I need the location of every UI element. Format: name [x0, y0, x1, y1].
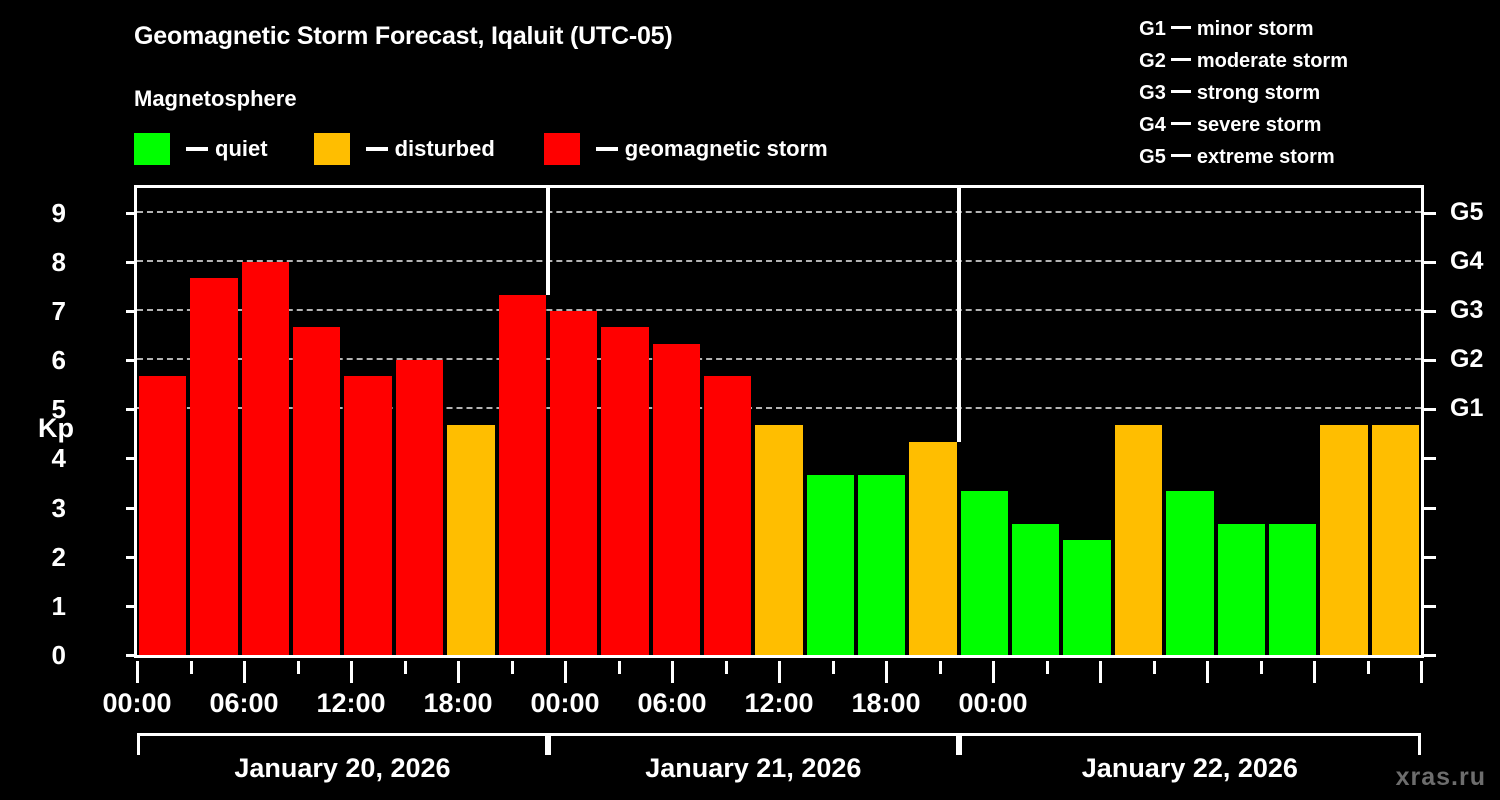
bar-slot	[1061, 188, 1112, 655]
bar[interactable]	[1166, 491, 1213, 655]
g-scale-code: G2	[1139, 50, 1166, 72]
day-bracket	[137, 733, 548, 755]
x-axis-tick	[511, 661, 514, 674]
bar-slot	[907, 188, 958, 655]
bar[interactable]	[190, 278, 237, 655]
x-axis-tick	[992, 661, 995, 683]
bar-slot	[291, 188, 342, 655]
x-axis-tick	[350, 661, 353, 683]
x-axis-tick	[457, 661, 460, 683]
x-axis-tick-label: 00:00	[530, 688, 599, 719]
x-axis-tick	[671, 661, 674, 683]
y-axis-tick-8	[126, 261, 137, 264]
y-axis-tick-label: 2	[26, 544, 66, 570]
bar[interactable]	[807, 475, 854, 655]
y-axis-tick-3	[126, 507, 137, 510]
legend-dash-icon	[366, 147, 388, 151]
g-axis-minor-tick	[1424, 507, 1436, 510]
g-axis-tick-label: G5	[1450, 200, 1483, 225]
g-scale-dash-icon	[1171, 26, 1191, 29]
g-axis-tick-label: G4	[1450, 249, 1483, 274]
g-scale-row-g5: G5extreme storm	[1139, 141, 1348, 173]
page-title: Geomagnetic Storm Forecast, Iqaluit (UTC…	[134, 22, 673, 51]
g-axis-minor-tick	[1424, 654, 1436, 657]
g-scale-dash-icon	[1171, 122, 1191, 125]
y-axis-tick-6	[126, 359, 137, 362]
bar-slot	[1010, 188, 1061, 655]
g-scale-code: G5	[1139, 146, 1166, 168]
x-axis-tick	[1099, 661, 1102, 683]
legend-dash-icon	[596, 147, 618, 151]
x-axis-tick	[832, 661, 835, 674]
y-axis-tick-label: 0	[26, 642, 66, 668]
bar[interactable]	[1320, 425, 1367, 655]
legend-swatch-quiet	[134, 133, 170, 165]
g-scale-label: moderate storm	[1197, 50, 1348, 72]
watermark: xras.ru	[1396, 763, 1486, 792]
day-separator	[957, 185, 961, 442]
x-axis-tick	[885, 661, 888, 683]
g-scale-row-g1: G1minor storm	[1139, 13, 1348, 45]
x-axis-tick-label: 00:00	[102, 688, 171, 719]
x-axis-tick-label: 18:00	[423, 688, 492, 719]
legend-label-quiet: quiet	[215, 136, 268, 162]
chart-plot-area	[134, 185, 1424, 658]
x-axis-tick	[725, 661, 728, 674]
g-axis-tick-g2	[1424, 359, 1436, 362]
bar-slot	[240, 188, 291, 655]
y-axis-tick-9	[126, 212, 137, 215]
plot-inner	[137, 188, 1421, 655]
x-axis-tick-label: 06:00	[209, 688, 278, 719]
legend-item-quiet: quiet	[134, 133, 268, 165]
bar-slot	[137, 188, 188, 655]
legend-item-storm: geomagnetic storm	[544, 133, 828, 165]
x-axis-tick-label: 12:00	[744, 688, 813, 719]
bar[interactable]	[550, 311, 597, 655]
bar[interactable]	[344, 376, 391, 655]
y-axis-tick-label: 3	[26, 495, 66, 521]
y-axis-tick-2	[126, 556, 137, 559]
x-axis-tick	[404, 661, 407, 674]
g-scale-label: strong storm	[1197, 82, 1320, 104]
day-separator	[546, 185, 550, 295]
x-axis-tick-label: 18:00	[851, 688, 920, 719]
bar-slot	[1164, 188, 1215, 655]
bar-slot	[1370, 188, 1421, 655]
bar[interactable]	[293, 327, 340, 655]
x-axis-tick-label: 12:00	[316, 688, 385, 719]
x-axis-tick	[618, 661, 621, 674]
bar-slot	[394, 188, 445, 655]
legend-dash-icon	[186, 147, 208, 151]
x-axis-tick	[136, 661, 139, 683]
x-axis-tick	[1260, 661, 1263, 674]
bar-slot	[1113, 188, 1164, 655]
bar[interactable]	[1372, 425, 1419, 655]
y-axis-tick-label: 6	[26, 347, 66, 373]
x-axis-tick	[1206, 661, 1209, 683]
bar-slot	[188, 188, 239, 655]
bar[interactable]	[1269, 524, 1316, 655]
x-axis-tick	[778, 661, 781, 683]
g-scale-dash-icon	[1171, 58, 1191, 61]
y-axis-tick-7	[126, 310, 137, 313]
g-scale-dash-icon	[1171, 90, 1191, 93]
bar-slot	[548, 188, 599, 655]
bar-series	[137, 188, 1421, 655]
y-axis-tick-label: 9	[26, 200, 66, 226]
bar-slot	[599, 188, 650, 655]
x-axis-tick	[190, 661, 193, 674]
bar-slot	[702, 188, 753, 655]
g-axis-tick-g5	[1424, 212, 1436, 215]
bar-slot	[342, 188, 393, 655]
legend-label-disturbed: disturbed	[395, 136, 495, 162]
x-axis-tick	[1046, 661, 1049, 674]
bar[interactable]	[242, 262, 289, 655]
g-scale-label: severe storm	[1197, 114, 1322, 136]
chart-subtitle: Magnetosphere	[134, 86, 297, 112]
day-bracket	[959, 733, 1421, 755]
bar-slot	[1216, 188, 1267, 655]
g-scale-row-g4: G4severe storm	[1139, 109, 1348, 141]
y-axis-tick-label: 7	[26, 298, 66, 324]
g-scale-label: minor storm	[1197, 18, 1314, 40]
y-axis-tick-1	[126, 605, 137, 608]
g-scale-label: extreme storm	[1197, 146, 1335, 168]
bar[interactable]	[447, 425, 494, 655]
magnetosphere-legend: quiet disturbed geomagnetic storm	[134, 133, 828, 165]
bar-slot	[1318, 188, 1369, 655]
x-axis-tick-label: 00:00	[958, 688, 1027, 719]
g-scale-row-g2: G2moderate storm	[1139, 45, 1348, 77]
g-scale-code: G3	[1139, 82, 1166, 104]
bar-slot	[497, 188, 548, 655]
bar[interactable]	[139, 376, 186, 655]
y-axis-tick-5	[126, 408, 137, 411]
bar[interactable]	[396, 360, 443, 655]
day-bracket	[548, 733, 959, 755]
g-axis-minor-tick	[1424, 605, 1436, 608]
x-axis-tick	[1420, 661, 1423, 683]
bar[interactable]	[1115, 425, 1162, 655]
g-scale-legend: G1minor stormG2moderate stormG3strong st…	[1139, 13, 1348, 173]
g-scale-code: G1	[1139, 18, 1166, 40]
g-axis-tick-label: G3	[1450, 298, 1483, 323]
bar[interactable]	[1218, 524, 1265, 655]
day-label: January 21, 2026	[645, 753, 861, 784]
g-scale-dash-icon	[1171, 154, 1191, 157]
legend-swatch-storm	[544, 133, 580, 165]
bar[interactable]	[1012, 524, 1059, 655]
g-axis-tick-g4	[1424, 261, 1436, 264]
x-axis-tick	[1153, 661, 1156, 674]
g-scale-row-g3: G3strong storm	[1139, 77, 1348, 109]
x-axis-tick	[564, 661, 567, 683]
y-axis-tick-0	[126, 654, 137, 657]
day-label: January 22, 2026	[1082, 753, 1298, 784]
legend-item-disturbed: disturbed	[314, 133, 495, 165]
bar-slot	[805, 188, 856, 655]
x-axis-tick	[939, 661, 942, 674]
bar-slot	[959, 188, 1010, 655]
g-axis-tick-g1	[1424, 408, 1436, 411]
g-axis-tick-g3	[1424, 310, 1436, 313]
y-axis-tick-label: 1	[26, 593, 66, 619]
x-axis-tick	[1313, 661, 1316, 683]
bar-slot	[856, 188, 907, 655]
x-axis-tick	[1367, 661, 1370, 674]
x-axis-tick-label: 06:00	[637, 688, 706, 719]
y-axis-tick-4	[126, 457, 137, 460]
bar[interactable]	[755, 425, 802, 655]
bar[interactable]	[601, 327, 648, 655]
x-axis-tick	[297, 661, 300, 674]
bar[interactable]	[704, 376, 751, 655]
legend-label-storm: geomagnetic storm	[625, 136, 828, 162]
bar[interactable]	[653, 344, 700, 655]
day-label: January 20, 2026	[234, 753, 450, 784]
bar[interactable]	[1063, 540, 1110, 655]
y-axis-tick-label: 8	[26, 249, 66, 275]
y-axis-tick-label: 5	[26, 396, 66, 422]
bar-slot	[445, 188, 496, 655]
legend-swatch-disturbed	[314, 133, 350, 165]
g-scale-code: G4	[1139, 114, 1166, 136]
bar[interactable]	[909, 442, 956, 655]
g-axis-tick-label: G1	[1450, 396, 1483, 421]
g-axis-minor-tick	[1424, 457, 1436, 460]
bar-slot	[1267, 188, 1318, 655]
bar-slot	[651, 188, 702, 655]
bar[interactable]	[858, 475, 905, 655]
bar[interactable]	[961, 491, 1008, 655]
y-axis-tick-label: 4	[26, 445, 66, 471]
g-axis-tick-label: G2	[1450, 347, 1483, 372]
bar-slot	[753, 188, 804, 655]
bar[interactable]	[499, 295, 546, 655]
x-axis-tick	[243, 661, 246, 683]
g-axis-minor-tick	[1424, 556, 1436, 559]
